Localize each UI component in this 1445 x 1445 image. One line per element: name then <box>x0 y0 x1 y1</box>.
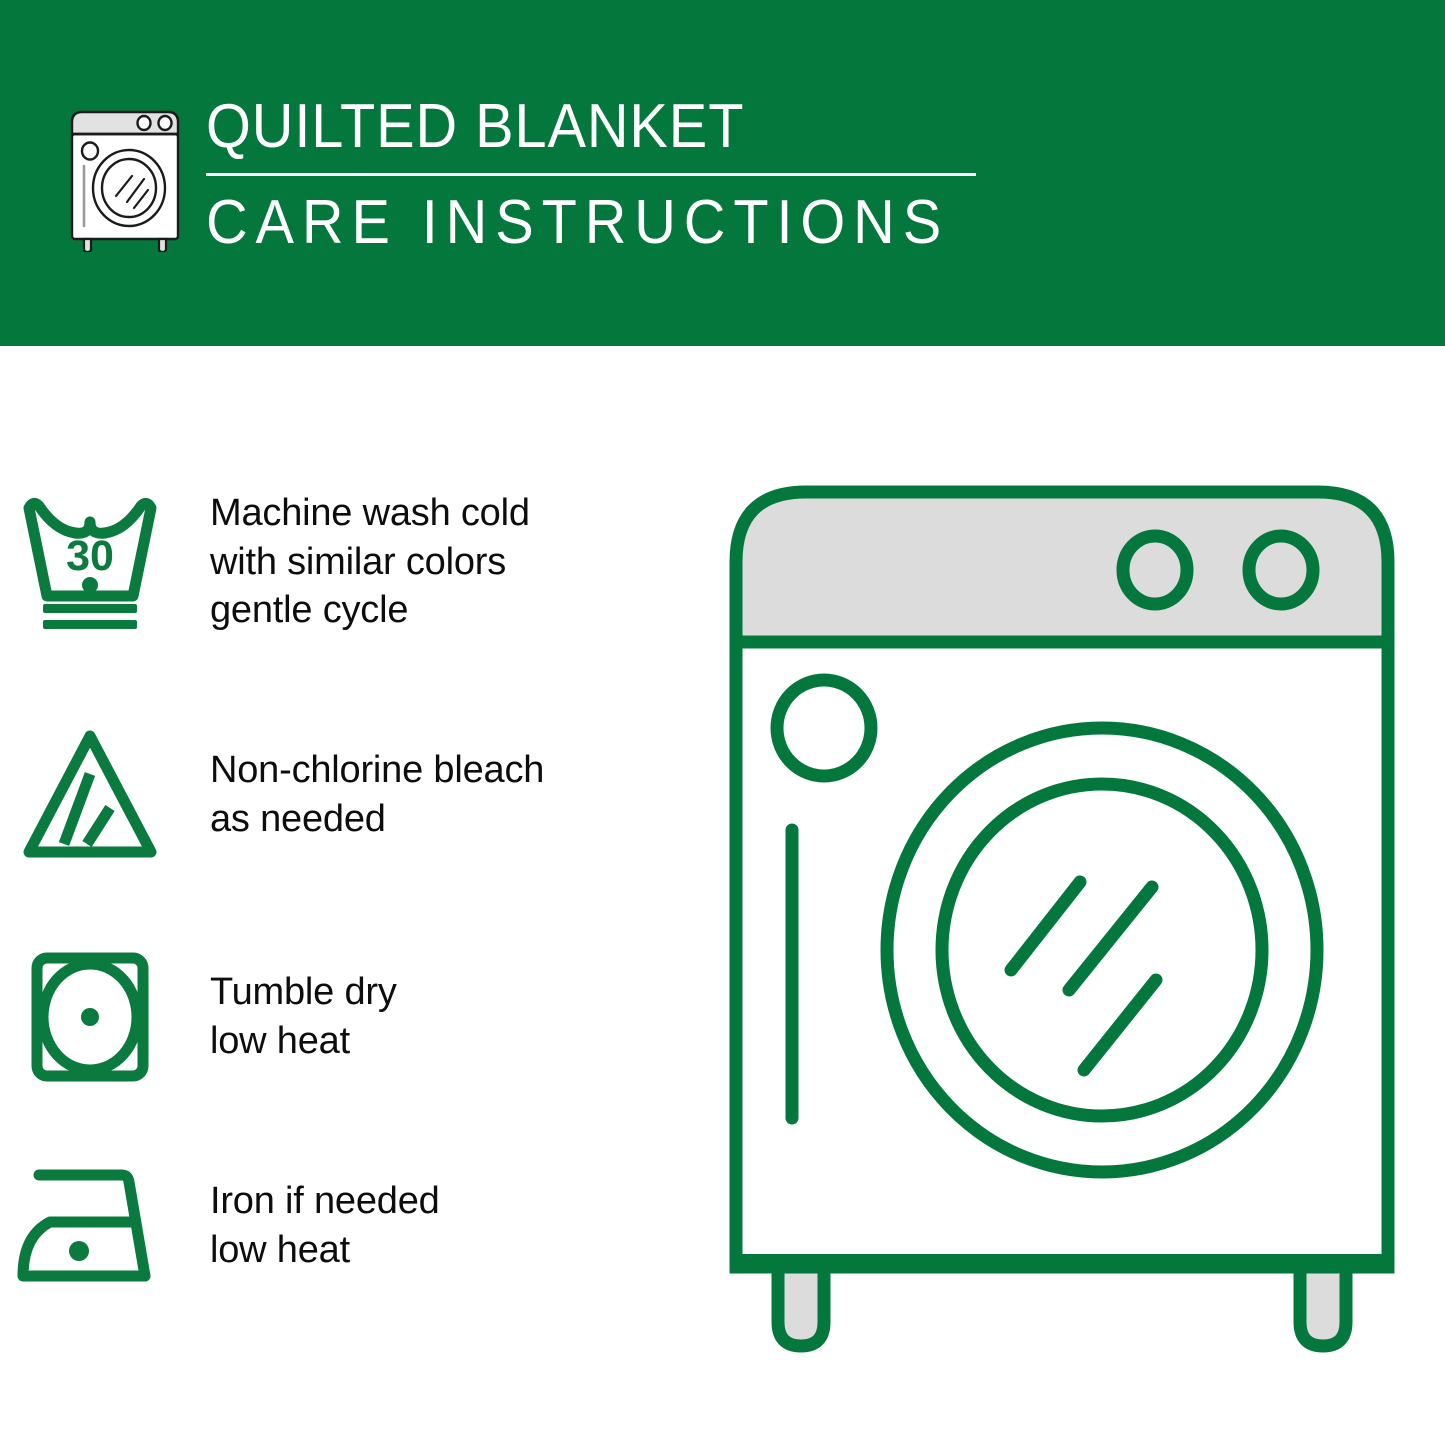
care-item-text: Non-chlorine bleach as needed <box>180 746 544 843</box>
control-knob <box>1249 536 1313 604</box>
non-chlorine-bleach-triangle-icon <box>0 722 180 867</box>
care-text-line: with similar colors <box>210 538 530 587</box>
care-item-text: Tumble dry low heat <box>180 968 397 1065</box>
machine-leg <box>1300 1267 1346 1346</box>
machine-leg <box>778 1267 824 1346</box>
care-text-line: Non-chlorine bleach <box>210 746 544 795</box>
care-text-line: Tumble dry <box>210 968 397 1017</box>
iron-low-heat-icon <box>0 1158 180 1293</box>
page-subtitle: CARE INSTRUCTIONS <box>206 192 941 254</box>
care-text-line: low heat <box>210 1017 397 1066</box>
care-symbol-list: 30 Machine wash cold with similar colors… <box>0 346 700 1445</box>
care-text-line: gentle cycle <box>210 586 530 635</box>
care-text-line: Machine wash cold <box>210 489 530 538</box>
detergent-knob <box>777 680 871 776</box>
care-text-line: as needed <box>210 795 544 844</box>
wash-temperature-label: 30 <box>66 532 114 580</box>
care-item-text: Machine wash cold with similar colors ge… <box>180 489 530 635</box>
care-item-tumble-dry: Tumble dry low heat <box>0 946 700 1088</box>
wash-tub-30-gentle-icon: 30 <box>0 486 180 638</box>
care-text-line: Iron if needed <box>210 1177 440 1226</box>
care-item-bleach: Non-chlorine bleach as needed <box>0 722 700 867</box>
title-divider <box>206 173 976 176</box>
washing-machine-illustration <box>712 470 1412 1360</box>
tumble-dry-low-icon <box>0 946 180 1088</box>
care-item-iron: Iron if needed low heat <box>0 1158 700 1293</box>
control-knob <box>1123 536 1187 604</box>
page-title: QUILTED BLANKET <box>206 96 941 158</box>
care-item-machine-wash: 30 Machine wash cold with similar colors… <box>0 486 700 638</box>
header-text-block: QUILTED BLANKET CARE INSTRUCTIONS <box>206 96 996 254</box>
care-instructions-page: QUILTED BLANKET CARE INSTRUCTIONS 30 <box>0 0 1445 1445</box>
care-item-text: Iron if needed low heat <box>180 1177 440 1274</box>
care-text-line: low heat <box>210 1226 440 1275</box>
washing-machine-icon <box>64 104 186 252</box>
header-banner: QUILTED BLANKET CARE INSTRUCTIONS <box>0 0 1445 346</box>
